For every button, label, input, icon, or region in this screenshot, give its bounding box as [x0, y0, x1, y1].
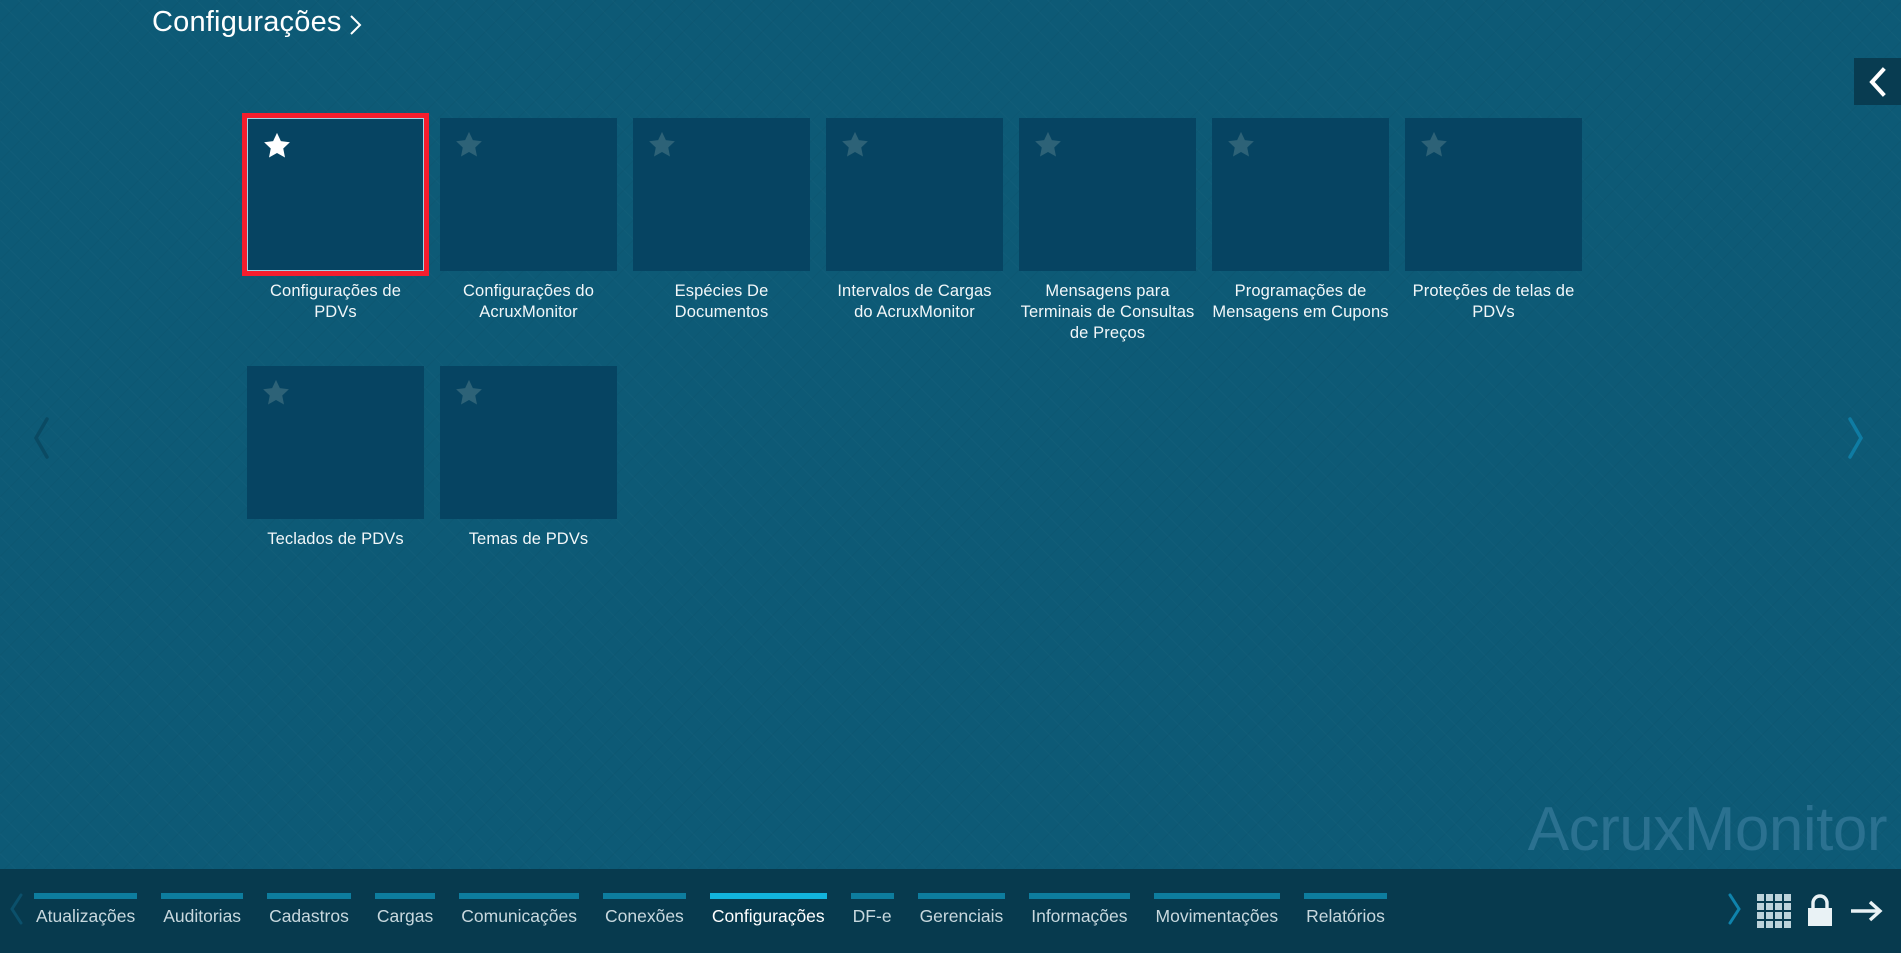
- tile-thumbnail[interactable]: [633, 118, 810, 271]
- nav-item-rule: [459, 893, 579, 899]
- star-icon[interactable]: [1033, 130, 1063, 160]
- nav-item-label: Atualizações: [34, 906, 137, 926]
- tile-item[interactable]: Configurações do AcruxMonitor: [440, 118, 617, 344]
- tile-label: Intervalos de Cargas do AcruxMonitor: [826, 281, 1003, 323]
- nav-item-configura-es[interactable]: Configurações: [710, 893, 827, 926]
- tile-thumbnail[interactable]: [1212, 118, 1389, 271]
- tile-thumbnail[interactable]: [1405, 118, 1582, 271]
- tile-label: Espécies De Documentos: [633, 281, 810, 323]
- logout-arrow-icon[interactable]: [1849, 896, 1885, 926]
- star-icon[interactable]: [454, 130, 484, 160]
- nav-item-rule: [710, 893, 827, 899]
- nav-item-label: Gerenciais: [918, 906, 1006, 926]
- apps-grid-icon[interactable]: [1757, 894, 1791, 928]
- nav-item-label: DF-e: [851, 906, 894, 926]
- nav-item-rule: [851, 893, 894, 899]
- carousel-prev-button[interactable]: [22, 415, 62, 465]
- chevron-right-icon: [1844, 416, 1866, 465]
- nav-item-cadastros[interactable]: Cadastros: [267, 893, 351, 926]
- star-icon[interactable]: [262, 131, 292, 161]
- nav-item-label: Configurações: [710, 906, 827, 926]
- breadcrumb[interactable]: Configurações: [152, 8, 364, 37]
- nav-item-rule: [1154, 893, 1281, 899]
- tile-thumbnail[interactable]: [826, 118, 1003, 271]
- tile-thumbnail[interactable]: [440, 118, 617, 271]
- tile-item[interactable]: Espécies De Documentos: [633, 118, 810, 344]
- tile-thumbnail[interactable]: [247, 366, 424, 519]
- nav-item-rule: [34, 893, 137, 899]
- nav-item-movimenta-es[interactable]: Movimentações: [1154, 893, 1281, 926]
- tile-label: Configurações do AcruxMonitor: [440, 281, 617, 323]
- carousel-next-button[interactable]: [1835, 415, 1875, 465]
- star-icon[interactable]: [1226, 130, 1256, 160]
- tile-item[interactable]: Intervalos de Cargas do AcruxMonitor: [826, 118, 1003, 344]
- nav-item-label: Conexões: [603, 906, 686, 926]
- tile-thumbnail[interactable]: [440, 366, 617, 519]
- nav-prev-button[interactable]: [0, 869, 34, 953]
- nav-item-rule: [1304, 893, 1387, 899]
- tile-label: Programações de Mensagens em Cupons: [1212, 281, 1389, 323]
- nav-item-informa-es[interactable]: Informações: [1029, 893, 1129, 926]
- nav-item-rule: [161, 893, 243, 899]
- nav-item-label: Cadastros: [267, 906, 351, 926]
- bottom-icon-group: [1751, 893, 1901, 929]
- tile-thumbnail[interactable]: [247, 118, 424, 271]
- nav-item-gerenciais[interactable]: Gerenciais: [918, 893, 1006, 926]
- nav-item-label: Auditorias: [161, 906, 243, 926]
- collapse-sidebar-button[interactable]: [1854, 58, 1901, 105]
- chevron-left-icon: [9, 893, 25, 930]
- tile-thumbnail[interactable]: [1019, 118, 1196, 271]
- nav-next-button[interactable]: [1717, 869, 1751, 953]
- tile-label: Configurações de PDVs: [247, 281, 424, 323]
- page-title: Configurações: [152, 8, 342, 37]
- nav-item-rule: [603, 893, 686, 899]
- bottom-navigation-bar: AtualizaçõesAuditoriasCadastrosCargasCom…: [0, 869, 1901, 953]
- star-icon[interactable]: [840, 130, 870, 160]
- star-icon[interactable]: [454, 378, 484, 408]
- nav-item-auditorias[interactable]: Auditorias: [161, 893, 243, 926]
- nav-item-label: Movimentações: [1154, 906, 1281, 926]
- tile-item[interactable]: Proteções de telas de PDVs: [1405, 118, 1582, 344]
- star-icon[interactable]: [1419, 130, 1449, 160]
- tile-item[interactable]: Programações de Mensagens em Cupons: [1212, 118, 1389, 344]
- star-icon[interactable]: [261, 378, 291, 408]
- tile-label: Teclados de PDVs: [247, 529, 424, 550]
- star-icon[interactable]: [647, 130, 677, 160]
- tile-label: Proteções de telas de PDVs: [1405, 281, 1582, 323]
- nav-item-rule: [375, 893, 435, 899]
- nav-item-rule: [918, 893, 1006, 899]
- nav-item-relat-rios[interactable]: Relatórios: [1304, 893, 1387, 926]
- tile-item[interactable]: Configurações de PDVs: [247, 118, 424, 344]
- tile-item[interactable]: Teclados de PDVs: [247, 366, 424, 550]
- nav-item-conex-es[interactable]: Conexões: [603, 893, 686, 926]
- tile-label: Temas de PDVs: [440, 529, 617, 550]
- nav-item-label: Relatórios: [1304, 906, 1387, 926]
- nav-item-rule: [1029, 893, 1129, 899]
- chevron-right-icon: [348, 14, 364, 36]
- tile-grid: Configurações de PDVsConfigurações do Ac…: [247, 118, 1597, 550]
- nav-item-cargas[interactable]: Cargas: [375, 893, 435, 926]
- chevron-right-icon: [1726, 893, 1742, 930]
- nav-item-comunica-es[interactable]: Comunicações: [459, 893, 579, 926]
- nav-item-label: Comunicações: [459, 906, 579, 926]
- tile-item[interactable]: Temas de PDVs: [440, 366, 617, 550]
- nav-item-list: AtualizaçõesAuditoriasCadastrosCargasCom…: [34, 869, 1717, 953]
- nav-item-label: Cargas: [375, 906, 435, 926]
- nav-item-rule: [267, 893, 351, 899]
- chevron-left-icon: [1866, 67, 1890, 97]
- chevron-left-icon: [31, 416, 53, 465]
- tile-item[interactable]: Mensagens para Terminais de Consultas de…: [1019, 118, 1196, 344]
- lock-icon[interactable]: [1805, 893, 1835, 929]
- nav-item-label: Informações: [1029, 906, 1129, 926]
- tile-label: Mensagens para Terminais de Consultas de…: [1019, 281, 1196, 344]
- nav-item-atualiza-es[interactable]: Atualizações: [34, 893, 137, 926]
- nav-item-df-e[interactable]: DF-e: [851, 893, 894, 926]
- app-watermark: AcruxMonitor: [1528, 799, 1887, 861]
